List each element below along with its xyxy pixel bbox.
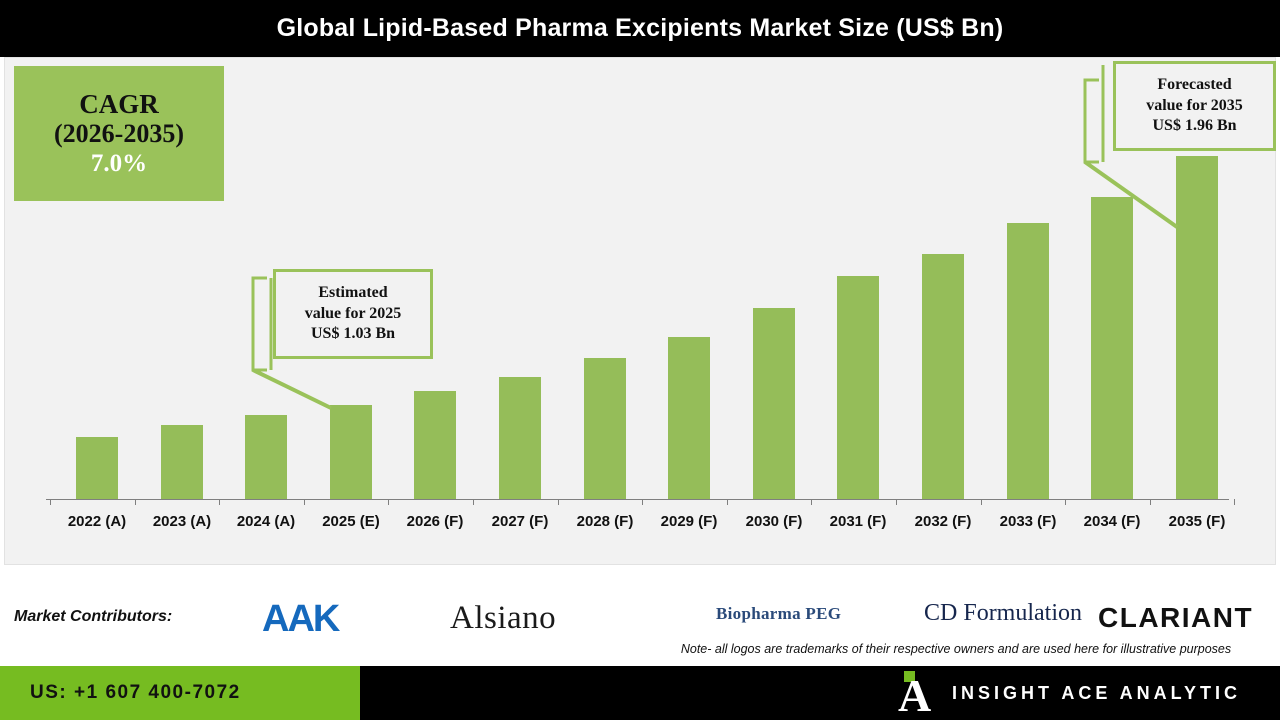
brand-name: INSIGHT ACE ANALYTIC	[952, 683, 1241, 704]
x-axis-tick	[304, 499, 305, 505]
x-axis-line	[46, 499, 1229, 500]
title-bar: Global Lipid-Based Pharma Excipients Mar…	[0, 0, 1280, 57]
x-axis-tick	[473, 499, 474, 505]
bar-2030[interactable]	[753, 308, 795, 499]
cd-formulation-logo: CD Formulation	[924, 600, 1082, 627]
estimated-value-callout: Estimated value for 2025 US$ 1.03 Bn	[273, 269, 433, 359]
bar-2032[interactable]	[922, 254, 964, 499]
infographic-root: Global Lipid-Based Pharma Excipients Mar…	[0, 0, 1280, 720]
estimated-callout-line3: US$ 1.03 Bn	[311, 324, 395, 344]
alsiano-logo: Alsiano	[450, 600, 556, 637]
bar-2023[interactable]	[161, 425, 203, 499]
chart-panel: CAGR (2026-2035) 7.0% 2022 (A)2023 (A)20…	[4, 57, 1276, 565]
insight-ace-logo-icon: A	[898, 671, 932, 715]
aak-logo: AAK	[262, 598, 338, 641]
x-axis-tick	[388, 499, 389, 505]
bar-2031[interactable]	[837, 276, 879, 499]
aak-logo-text: AAK	[262, 598, 338, 641]
forecast-value-callout: Forecasted value for 2035 US$ 1.96 Bn	[1113, 61, 1276, 151]
x-axis-label: 2035 (F)	[1147, 513, 1247, 530]
biopharma-peg-logo-text: Biopharma PEG	[716, 604, 841, 624]
bar-2028[interactable]	[584, 358, 626, 499]
market-contributors-label: Market Contributors:	[14, 608, 172, 626]
x-axis-tick	[50, 499, 51, 505]
forecast-callout-line1: Forecasted	[1157, 75, 1231, 95]
footer-phone-number[interactable]: US: +1 607 400-7072	[30, 682, 241, 704]
bar-2026[interactable]	[414, 391, 456, 499]
x-axis-tick	[1150, 499, 1151, 505]
x-axis-tick	[981, 499, 982, 505]
x-axis-tick	[727, 499, 728, 505]
alsiano-logo-text: Alsiano	[450, 600, 556, 637]
brand-letter: A	[898, 676, 931, 715]
x-axis-tick	[811, 499, 812, 505]
bar-2025[interactable]	[330, 405, 372, 499]
footer-bar: US: +1 607 400-7072 A INSIGHT ACE ANALYT…	[0, 666, 1280, 720]
bar-2027[interactable]	[499, 377, 541, 499]
bar-2029[interactable]	[668, 337, 710, 499]
bar-2033[interactable]	[1007, 223, 1049, 499]
forecast-callout-line3: US$ 1.96 Bn	[1152, 116, 1236, 136]
footer-contact-block: US: +1 607 400-7072	[0, 666, 360, 720]
page-title: Global Lipid-Based Pharma Excipients Mar…	[277, 14, 1004, 43]
bar-2024[interactable]	[245, 415, 287, 499]
cd-formulation-logo-text: CD Formulation	[924, 600, 1082, 627]
bar-2022[interactable]	[76, 437, 118, 499]
forecast-callout-line2: value for 2035	[1146, 96, 1243, 116]
bar-2034[interactable]	[1091, 197, 1133, 499]
x-axis-tick	[219, 499, 220, 505]
biopharma-peg-logo: Biopharma PEG	[716, 604, 841, 624]
clariant-logo-text: CLARIANT	[1098, 602, 1253, 634]
x-axis-tick	[1065, 499, 1066, 505]
x-axis-tick	[558, 499, 559, 505]
x-axis-tick	[1234, 499, 1235, 505]
x-axis-tick	[135, 499, 136, 505]
brand-block: A INSIGHT ACE ANALYTIC	[898, 666, 1241, 720]
x-axis-tick	[896, 499, 897, 505]
estimated-callout-line2: value for 2025	[305, 304, 402, 324]
clariant-logo: CLARIANT	[1098, 602, 1253, 634]
estimated-callout-line1: Estimated	[318, 283, 387, 303]
x-axis-tick	[642, 499, 643, 505]
trademark-note: Note- all logos are trademarks of their …	[640, 642, 1272, 658]
